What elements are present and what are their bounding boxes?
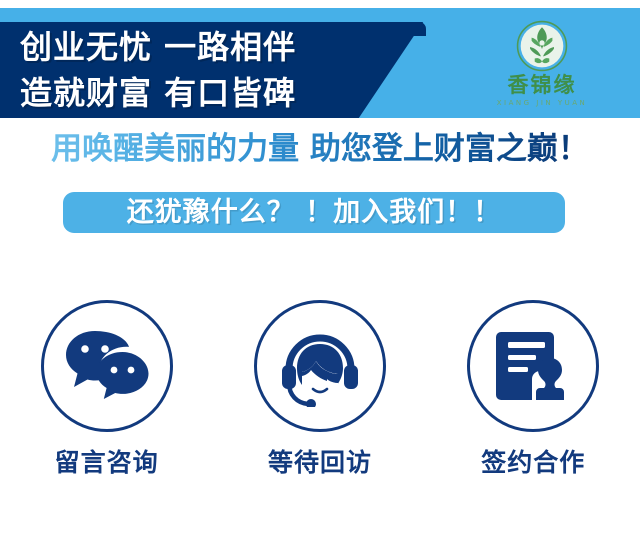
feature-item-consult[interactable]: 留言咨询 (17, 300, 197, 478)
feature-label: 留言咨询 (17, 448, 197, 478)
top-banner: 创业无忧 一路相伴 造就财富 有口皆碑 香锦缘 XIANG JIN YUAN (0, 0, 640, 120)
feature-icon-circle (467, 300, 599, 432)
headline: 创业无忧 一路相伴 造就财富 有口皆碑 (20, 24, 440, 116)
headset-operator-icon (277, 325, 363, 407)
feature-label: 等待回访 (230, 448, 410, 478)
feature-item-callback[interactable]: 等待回访 (230, 300, 410, 478)
contract-stamp-icon (493, 326, 573, 406)
feature-icon-circle (254, 300, 386, 432)
feature-list: 留言咨询 (0, 300, 640, 500)
headline-line-2: 造就财富 有口皆碑 (20, 70, 440, 116)
xiangjinyuan-emblem-icon (516, 20, 568, 72)
subheadline: 用唤醒美丽的力量 助您登上财富之巅！ (0, 126, 640, 172)
feature-item-signing[interactable]: 签约合作 (443, 300, 623, 478)
cta-banner[interactable]: 还犹豫什么？ ！加入我们！！ (63, 192, 565, 233)
feature-label: 签约合作 (443, 448, 623, 478)
feature-icon-circle (41, 300, 173, 432)
logo-brand-name: 香锦缘 (472, 73, 612, 97)
logo-pinyin: XIANG JIN YUAN (472, 98, 612, 108)
promo-poster: 创业无忧 一路相伴 造就财富 有口皆碑 香锦缘 XIANG JIN YUAN 用… (0, 0, 640, 538)
brand-logo: 香锦缘 XIANG JIN YUAN (472, 20, 612, 116)
wechat-chat-bubbles-icon (64, 327, 150, 405)
headline-line-1: 创业无忧 一路相伴 (20, 24, 440, 70)
